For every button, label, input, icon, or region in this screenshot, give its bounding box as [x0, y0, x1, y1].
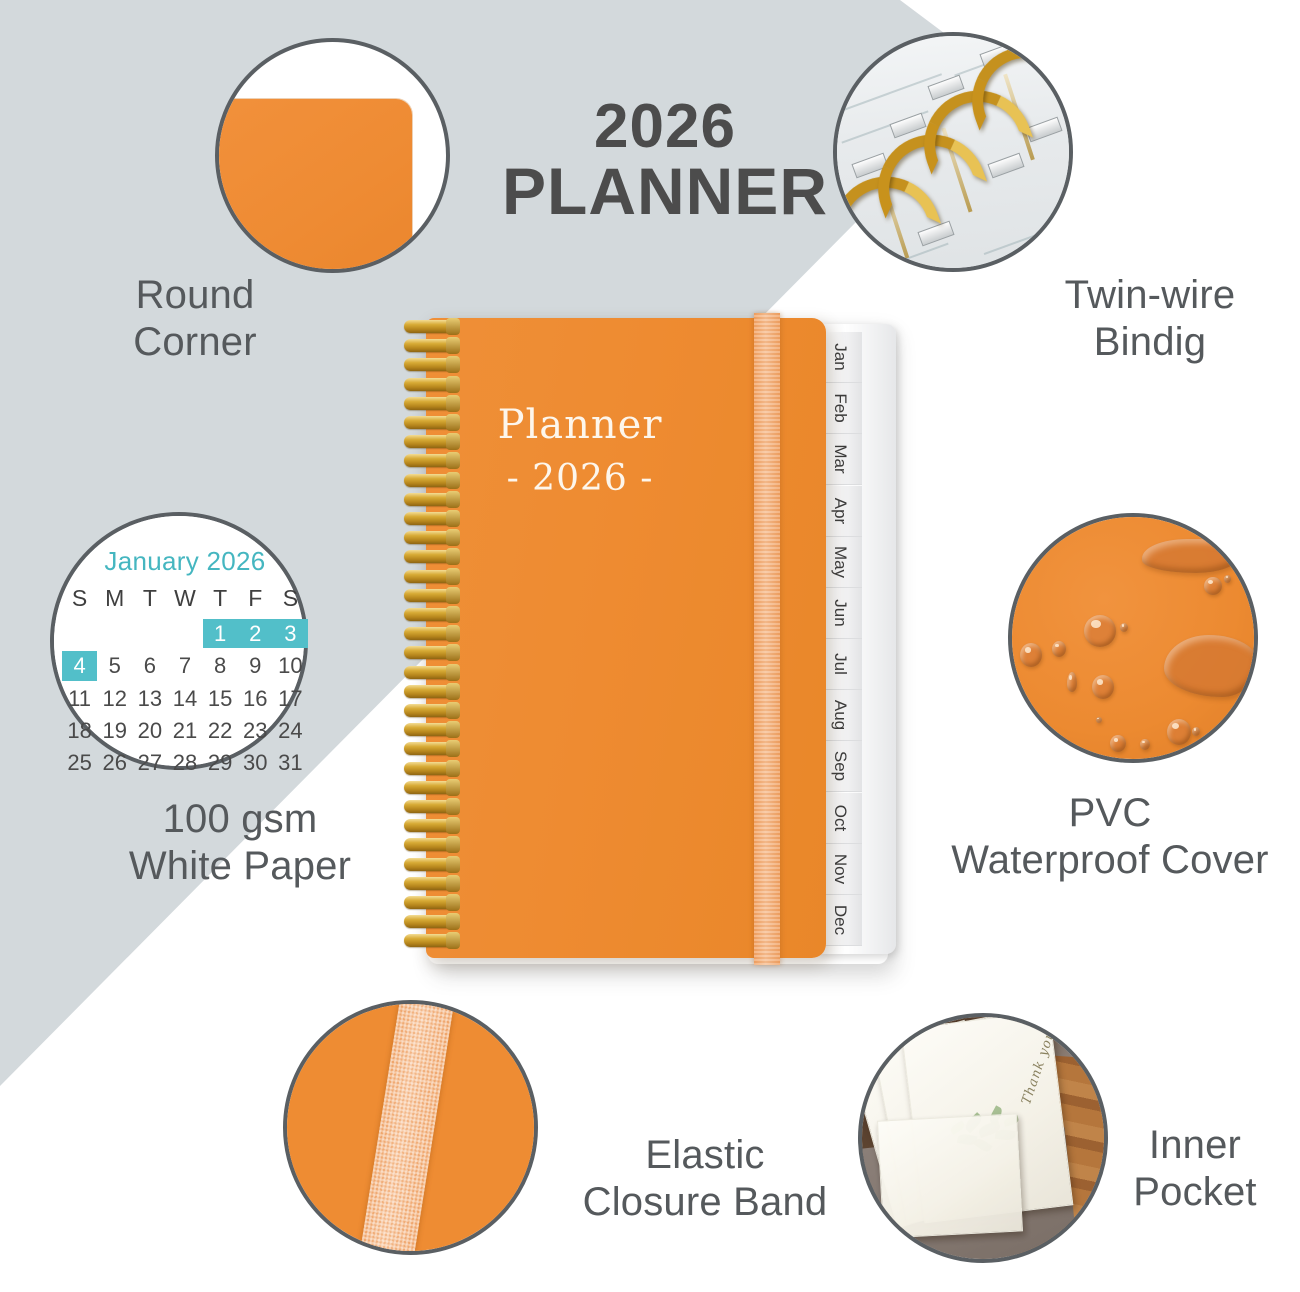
calendar-day-20[interactable]: 20 [132, 716, 167, 745]
spiral-coil [404, 934, 456, 947]
calendar-day-6[interactable]: 6 [132, 651, 167, 680]
calendar-day-5[interactable]: 5 [97, 651, 132, 680]
spiral-coil [404, 550, 456, 563]
spiral-coil [404, 838, 456, 851]
calendar-day-25[interactable]: 25 [62, 748, 97, 777]
spiral-coil [404, 704, 456, 717]
spiral-coil [404, 666, 456, 679]
spiral-coil [404, 896, 456, 909]
water-droplets-icon [1012, 517, 1254, 759]
spiral-coil [404, 589, 456, 602]
calendar-day-16[interactable]: 16 [238, 684, 273, 713]
calendar-day-17[interactable]: 17 [273, 684, 308, 713]
cover-title-line2: - 2026 - [426, 458, 734, 499]
spiral-coil [404, 781, 456, 794]
calendar-weekday-2: T [132, 583, 167, 616]
spiral-coil [404, 378, 456, 391]
elastic-closure-band [754, 313, 780, 965]
calendar-day-26[interactable]: 26 [97, 748, 132, 777]
calendar-weekday-4: T [203, 583, 238, 616]
calendar-weekday-1: M [97, 583, 132, 616]
spiral-coil [404, 416, 456, 429]
calendar-day-31[interactable]: 31 [273, 748, 308, 777]
inner-pocket-photo-icon: Thank you [862, 1017, 1104, 1259]
calendar-month: January 2026 SMTWTFS....1234567891011121… [62, 546, 308, 777]
calendar-weekday-5: F [238, 583, 273, 616]
spiral-coil [404, 685, 456, 698]
month-tab-label: Nov [830, 854, 850, 884]
card-thank-you-text: Thank you [1019, 1028, 1058, 1106]
twin-wire-photo-icon [833, 32, 1073, 272]
calendar-day-27[interactable]: 27 [132, 748, 167, 777]
spiral-coil [404, 723, 456, 736]
calendar-title: January 2026 [62, 546, 308, 577]
month-tab-label: Sep [830, 751, 850, 781]
feature-label-pvc: PVC Waterproof Cover [920, 790, 1300, 884]
feature-icon-round-corner [215, 38, 450, 273]
spiral-coil [404, 608, 456, 621]
spiral-coil [404, 646, 456, 659]
calendar-day-23[interactable]: 23 [238, 716, 273, 745]
spiral-coil [404, 742, 456, 755]
calendar-grid: SMTWTFS....12345678910111213141516171819… [62, 583, 308, 777]
feature-icon-inner-pocket: Thank you [858, 1013, 1108, 1263]
feature-label-paper: 100 gsm White Paper [95, 796, 385, 890]
calendar-day-4[interactable]: 4 [62, 651, 97, 680]
spiral-coil [404, 397, 456, 410]
month-tab-pages: JanFebMarAprMayJunJulAugSepOctNovDec [818, 324, 896, 954]
calendar-day-8[interactable]: 8 [203, 651, 238, 680]
calendar-day-13[interactable]: 13 [132, 684, 167, 713]
spiral-coil [404, 454, 456, 467]
spiral-coil [404, 877, 456, 890]
calendar-weekday-6: S [273, 583, 308, 616]
feature-label-elastic: Elastic Closure Band [545, 1132, 865, 1226]
feature-label-twin-wire: Twin-wire Bindig [1010, 272, 1290, 366]
feature-icon-pvc-waterproof [1008, 513, 1258, 763]
month-tab-label: Dec [830, 905, 850, 935]
title-word: PLANNER [470, 158, 860, 225]
title-year: 2026 [470, 95, 860, 158]
month-tab-label: Aug [830, 700, 850, 730]
month-tab-label: Feb [830, 394, 850, 423]
spiral-coil [404, 474, 456, 487]
spiral-coil [404, 819, 456, 832]
calendar-day-30[interactable]: 30 [238, 748, 273, 777]
month-tab-label: Mar [830, 445, 850, 474]
month-tab-label: Apr [830, 497, 850, 523]
spiral-coil [404, 512, 456, 525]
calendar-day-28[interactable]: 28 [167, 748, 202, 777]
page-title: 2026 PLANNER [470, 95, 860, 226]
feature-label-pocket: Inner Pocket [1090, 1122, 1300, 1216]
calendar-day-2[interactable]: 2 [238, 619, 273, 648]
month-tab-label: Jan [830, 343, 850, 370]
spiral-coil [404, 435, 456, 448]
month-tab-label: Jun [830, 599, 850, 626]
calendar-day-1[interactable]: 1 [203, 619, 238, 648]
cover-title: Planner - 2026 - [426, 402, 734, 499]
spiral-coil [404, 627, 456, 640]
planner-cover: Planner - 2026 - [426, 318, 826, 958]
calendar-day-29[interactable]: 29 [203, 748, 238, 777]
calendar-day-24[interactable]: 24 [273, 716, 308, 745]
calendar-weekday-3: W [167, 583, 202, 616]
calendar-day-7[interactable]: 7 [167, 651, 202, 680]
calendar-day-11[interactable]: 11 [62, 684, 97, 713]
product-infographic: 2026 PLANNER Round Corner [0, 0, 1300, 1292]
month-tab-label: Jul [830, 653, 850, 675]
feature-icon-paper-calendar: January 2026 SMTWTFS....1234567891011121… [50, 512, 308, 770]
calendar-day-14[interactable]: 14 [167, 684, 202, 713]
spiral-coil [404, 358, 456, 371]
spiral-coil [404, 800, 456, 813]
feature-label-round-corner: Round Corner [60, 272, 330, 366]
calendar-day-22[interactable]: 22 [203, 716, 238, 745]
cover-title-line1: Planner [426, 402, 734, 448]
elastic-band-strip-icon [287, 1004, 534, 1251]
calendar-day-9[interactable]: 9 [238, 651, 273, 680]
spiral-coil [404, 858, 456, 871]
calendar-weekday-0: S [62, 583, 97, 616]
month-tab-label: May [830, 546, 850, 578]
spiral-coil [404, 762, 456, 775]
rounded-corner-swatch-icon [215, 99, 412, 273]
calendar-day-19[interactable]: 19 [97, 716, 132, 745]
spiral-coil [404, 493, 456, 506]
feature-icon-twin-wire [833, 32, 1073, 272]
calendar-day-3[interactable]: 3 [273, 619, 308, 648]
spiral-coil [404, 339, 456, 352]
feature-icon-elastic-band [283, 1000, 538, 1255]
calendar-day-10[interactable]: 10 [273, 651, 308, 680]
month-tab-label: Oct [830, 804, 850, 830]
twin-wire-spiral-binding [398, 318, 458, 958]
spiral-coil [404, 570, 456, 583]
planner-product-image: JanFebMarAprMayJunJulAugSepOctNovDec Pla… [398, 310, 918, 970]
spiral-coil [404, 531, 456, 544]
spiral-coil [404, 320, 456, 333]
calendar-day-21[interactable]: 21 [167, 716, 202, 745]
calendar-day-18[interactable]: 18 [62, 716, 97, 745]
calendar-day-15[interactable]: 15 [203, 684, 238, 713]
spiral-coil [404, 915, 456, 928]
calendar-day-12[interactable]: 12 [97, 684, 132, 713]
